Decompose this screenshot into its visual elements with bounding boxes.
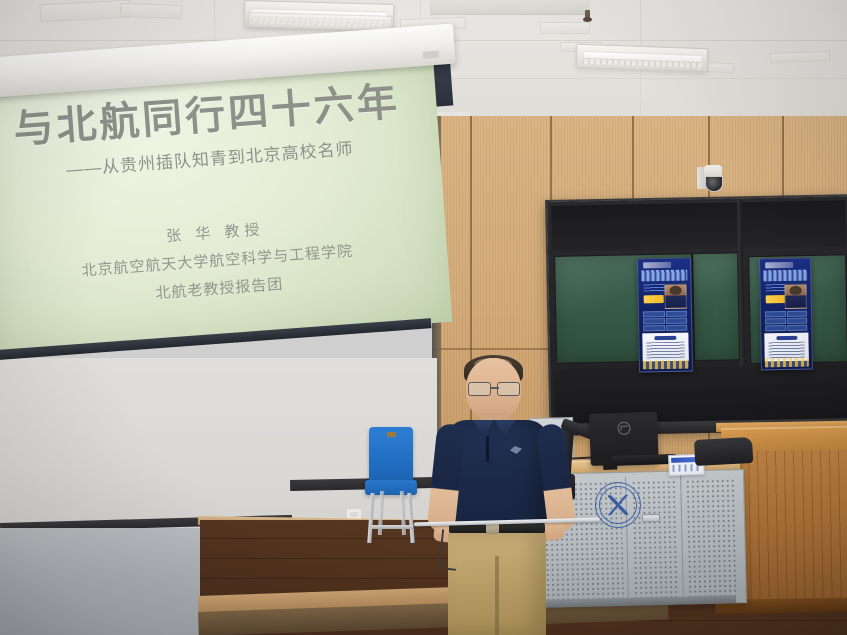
poster-title-block [641,270,687,282]
poster-topic-boxes [765,311,807,332]
chair-backrest [369,427,413,483]
projection-screen: 与北航同行四十六年 ——从贵州插队知青到北京高校名师 张 华 教授 北京航空航天… [0,54,452,355]
ceiling-vent [430,0,590,15]
lecture-poster-right[interactable] [759,258,813,371]
glasses-icon [467,382,521,394]
chair-rail [371,525,413,529]
chair-leg [407,493,414,543]
lecture-hall-photo: 与北航同行四十六年 ——从贵州插队知青到北京高校名师 张 华 教授 北京航空航天… [0,0,847,635]
poster-logo [765,262,793,268]
poster-speaker-photo [664,284,686,309]
chalkboard-panel [692,252,740,361]
dell-logo-icon [617,422,630,435]
blue-plastic-chair[interactable] [363,427,419,545]
lecture-poster-left[interactable] [637,258,693,373]
cabinet-perforation [685,478,738,597]
poster-datetime-block [765,358,809,368]
dome-security-camera [697,165,723,193]
poster-topic-boxes [643,311,687,332]
poster-datetime-block [643,360,689,370]
shirt-placket [486,436,489,462]
shirt-collar [473,420,515,440]
presenter [424,358,576,635]
chair-leg [367,493,374,543]
poster-title-block [763,270,807,282]
poster-speaker-photo [784,284,806,309]
poster-logo [643,262,671,268]
ceiling-light-2 [576,44,709,73]
sprinkler-head [583,10,592,23]
slide-content: 与北航同行四十六年 ——从贵州插队知青到北京高校名师 张 华 教授 北京航空航天… [0,60,449,315]
black-bag[interactable] [694,437,753,466]
poster-abstract-card [642,333,688,362]
cabinet-handle[interactable] [642,514,660,522]
belt-buckle [486,523,499,534]
trousers [448,530,546,635]
poster-speaker-name [766,295,786,303]
poster-speaker-name [644,295,664,303]
